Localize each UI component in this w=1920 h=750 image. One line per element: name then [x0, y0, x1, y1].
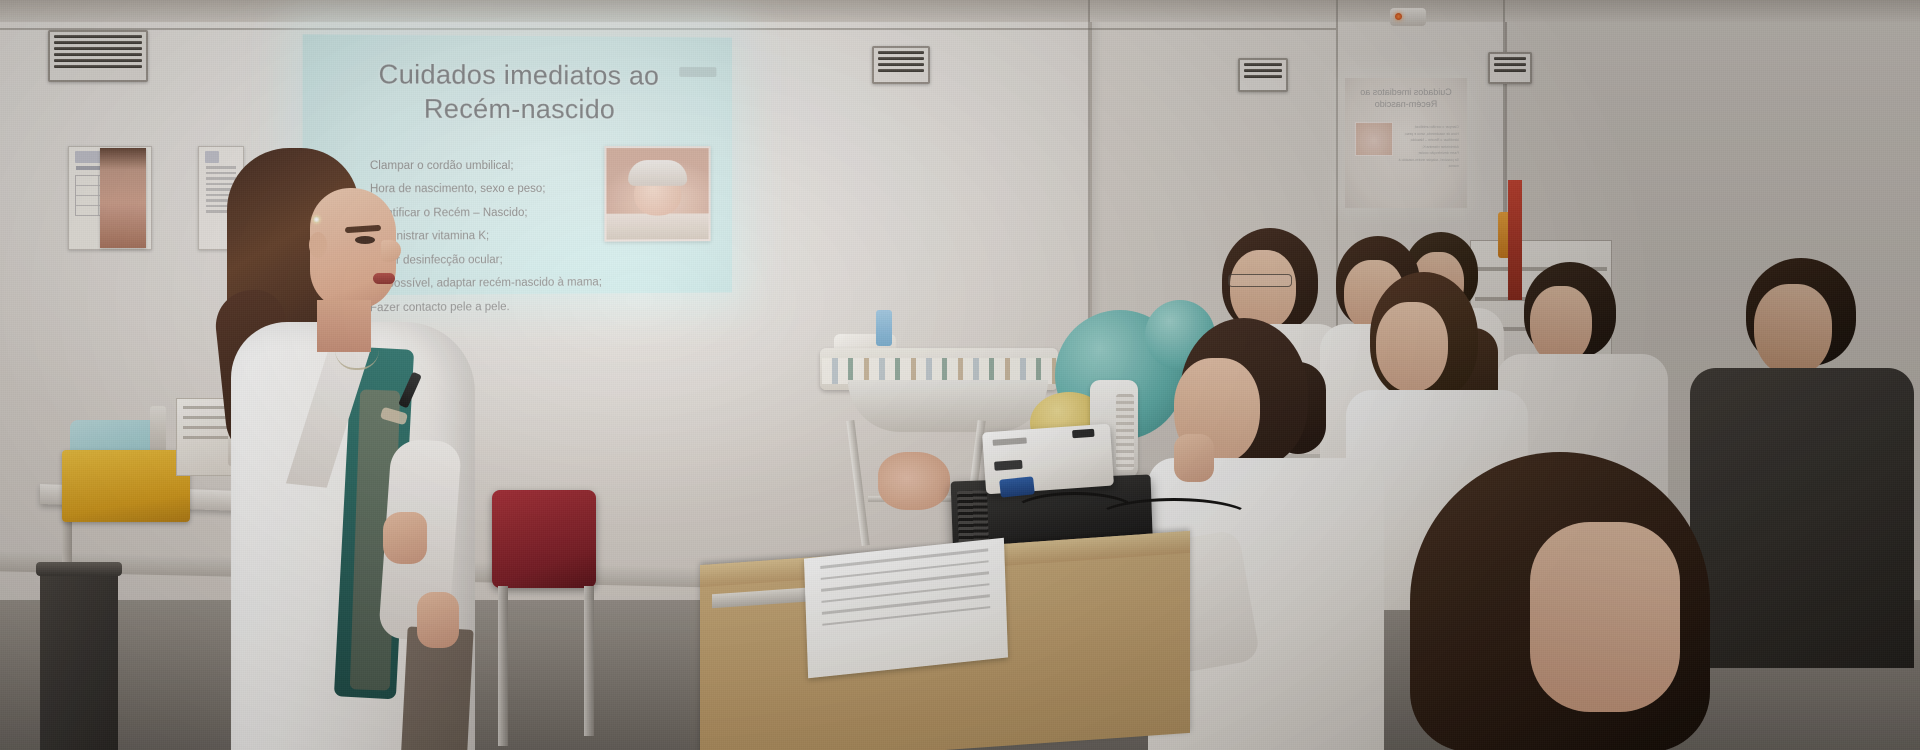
- ventilation-grille-icon: [48, 30, 148, 82]
- eyeglasses-icon: [1228, 274, 1292, 287]
- presenter-nurse: [205, 140, 485, 750]
- audience-member-foreground: [1380, 452, 1760, 750]
- slide-title-line-2: Recém-nascido: [303, 91, 732, 126]
- ceiling-strip: [0, 0, 1920, 22]
- projector-lens-icon: [1072, 429, 1095, 439]
- classroom-photo: Cuidados imediatos ao Recém-nascido Clam…: [0, 0, 1920, 750]
- projector-ports: [994, 460, 1023, 471]
- supply-bottle-small: [150, 406, 166, 452]
- vga-cable-plug: [999, 476, 1035, 497]
- red-chair: [492, 490, 602, 750]
- reflection-title: Cuidados imediatos ao Recém-nascido: [1345, 86, 1467, 110]
- slide-reflection-mirror: Cuidados imediatos ao Recém-nascido Clam…: [1345, 78, 1467, 208]
- reflection-title-line-2: Recém-nascido: [1345, 98, 1467, 110]
- reflection-photo: [1355, 122, 1393, 156]
- reflection-bullets: Clampar o cordão umbilical; Hora de nasc…: [1395, 124, 1459, 170]
- slide-title-line-1: Cuidados imediatos ao: [303, 57, 732, 93]
- slide-title: Cuidados imediatos ao Recém-nascido: [303, 57, 732, 127]
- reflection-title-line-1: Cuidados imediatos ao: [1345, 86, 1467, 98]
- baby-bottle: [876, 310, 892, 346]
- ventilation-grille-icon: [872, 46, 930, 84]
- newborn-simulation-doll: [878, 452, 950, 510]
- detector-led-indicator: [1395, 13, 1402, 20]
- wall-seam-top: [0, 28, 1336, 30]
- earring-icon: [313, 216, 320, 223]
- ventilation-grille-icon: [1488, 52, 1532, 84]
- papers-on-desk: [804, 538, 1008, 679]
- poster-fotografia-bebe: [100, 148, 146, 248]
- projector-brand-label: [993, 437, 1027, 445]
- ventilation-grille-icon: [1238, 58, 1288, 92]
- yellow-storage-bin: [62, 450, 190, 522]
- waste-bin: [40, 570, 118, 750]
- smoke-detector-icon: [1390, 8, 1426, 26]
- slide-newborn-photo: [604, 146, 710, 242]
